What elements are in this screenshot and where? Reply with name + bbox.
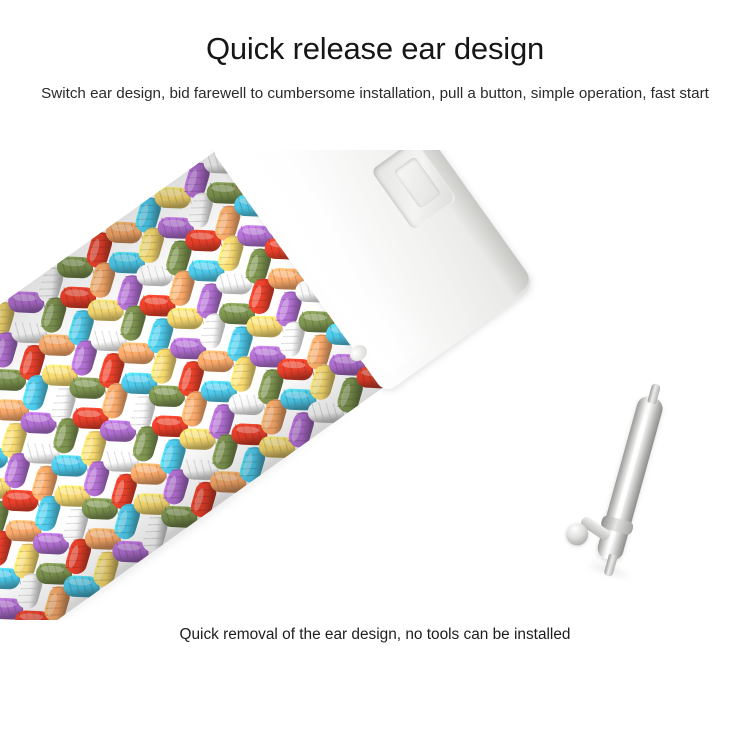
product-feature-image: Quick release ear design Switch ear desi…: [0, 0, 750, 750]
page-title: Quick release ear design: [0, 33, 750, 66]
product-caption: Quick removal of the ear design, no tool…: [0, 626, 750, 644]
page-subtitle: Switch ear design, bid farewell to cumbe…: [28, 82, 722, 106]
watch-band-assembly: [0, 150, 525, 620]
quick-release-spring-bar-pin: [535, 366, 736, 608]
product-photo: [0, 150, 750, 620]
